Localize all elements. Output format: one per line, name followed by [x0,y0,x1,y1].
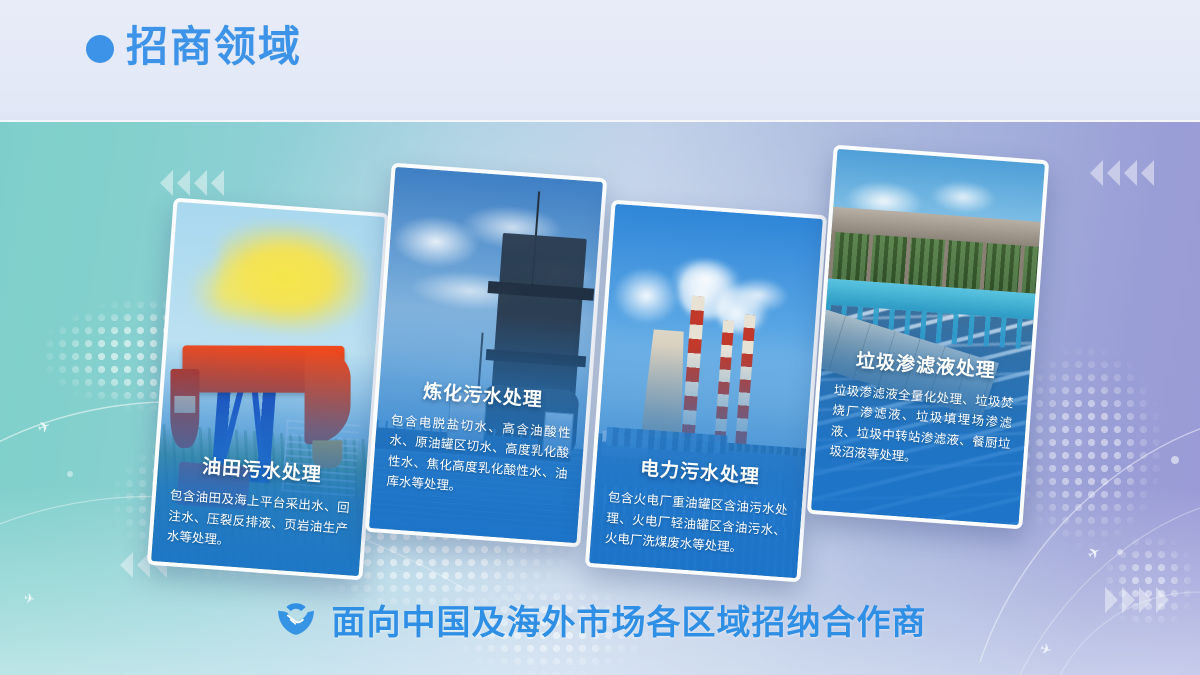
slide-header: 招商领域 [0,0,1200,122]
dotted-map-decoration [1020,332,1200,562]
handshake-icon [274,597,318,641]
card-description: 包含油田及海上平台采出水、回注水、压裂反排液、页岩油生产水等处理。 [166,485,350,559]
card-description: 包含火电厂重油罐区含油污水处理、火电厂轻油罐区含油污水、火电厂洗煤废水等处理。 [604,487,788,561]
category-card-refining[interactable]: 炼化污水处理 包含电脱盐切水、高含油酸性水、原油罐区切水、高度乳化酸性水、焦化高… [365,163,608,548]
slide-root: ✈ ✈ ✈ ✈ ✈ 油田污水处理 [0,0,1200,675]
chevron-arrows-icon [1090,160,1154,186]
filled-circle-icon [86,35,114,63]
footer-text: 面向中国及海外市场各区域招纳合作商 [332,595,927,644]
airplane-icon: ✈ [1085,544,1103,563]
slide-title-row: 招商领域 [86,26,302,68]
airplane-icon: ✈ [36,418,53,437]
page-title: 招商领域 [126,26,302,68]
footer-banner: 面向中国及海外市场各区域招纳合作商 [0,588,1200,650]
category-card-oilfield[interactable]: 油田污水处理 包含油田及海上平台采出水、回注水、压裂反排液、页岩油生产水等处理。 [147,198,389,581]
card-description: 包含电脱盐切水、高含油酸性水、原油罐区切水、高度乳化酸性水、焦化高度乳化酸性水、… [386,410,571,504]
category-card-leachate[interactable]: 垃圾渗滤液处理 垃圾渗滤液全量化处理、垃圾焚烧厂渗滤液、垃圾填埋场渗滤液、垃圾中… [807,145,1050,530]
card-description: 垃圾渗滤液全量化处理、垃圾焚烧厂渗滤液、垃圾填埋场渗滤液、垃圾中转站渗滤液、餐厨… [829,380,1014,474]
category-card-power[interactable]: 电力污水处理 包含火电厂重油罐区含油污水处理、火电厂轻油罐区含油污水、火电厂洗煤… [585,200,827,583]
header-divider [0,120,1200,122]
chevron-arrows-icon [160,170,224,196]
